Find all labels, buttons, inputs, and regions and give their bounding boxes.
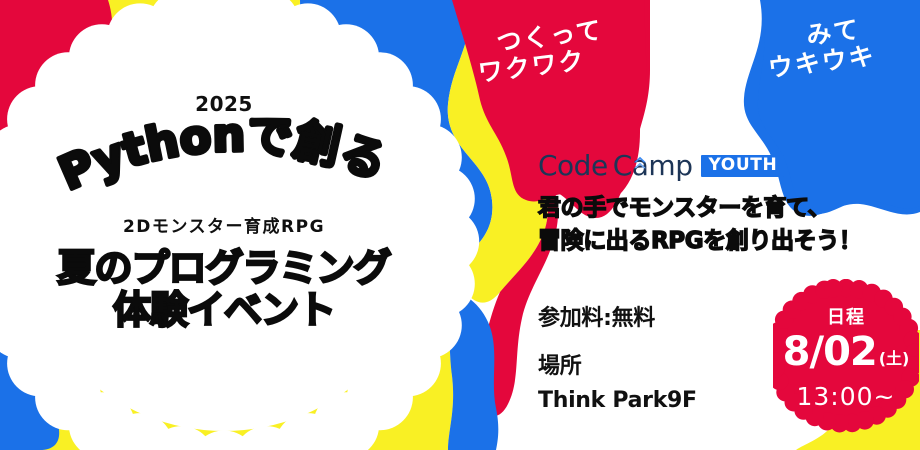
fee-line: 参加料:無料 [538,308,697,330]
logo-a-with-chevron: a [632,152,649,180]
codecamp-youth-logo: Code C a mp YOUTH [538,152,784,180]
youth-badge: YOUTH [701,155,784,177]
logo-mp-text: mp [648,152,692,180]
headline-line1: 君の手でモンスターを育て、 [538,192,861,225]
place-label: 場所 [538,356,697,378]
arched-title: Pythonで創る [44,122,404,208]
main-title-line1: 夏のプログラミング [57,249,390,289]
svg-text:Pythonで創る: Pythonで創る [51,107,394,200]
subtitle: 2Dモンスター育成RPG [123,212,325,237]
right-content-column: Code C a mp YOUTH 君の手でモンスターを育て、 冒険に出る [520,0,920,450]
event-info: 参加料:無料 場所 Think Park9F [538,308,697,412]
arched-title-text: Pythonで創る [51,107,394,200]
left-title-badge: 2025 Pythonで創る 2Dモンスター育成RPG 夏のプログラミング 体験… [18,18,430,432]
chevron-up-icon [633,156,648,175]
main-title-line2: 体験イベント [113,291,335,331]
headline: 君の手でモンスターを育て、 冒険に出るRPGを創り出そう！ [538,192,861,257]
date-label: 日程 [827,309,865,327]
date-badge: 日程 8/02 (土) 13:00~ [773,279,919,435]
logo-code-text: Code [538,152,608,180]
headline-line2: 冒険に出るRPGを創り出そう！ [538,225,861,258]
start-time: 13:00~ [797,384,896,409]
event-poster: 2025 Pythonで創る 2Dモンスター育成RPG 夏のプログラミング 体験… [0,0,920,450]
place-value: Think Park9F [538,390,697,412]
logo-c-text: C [613,152,632,180]
codecamp-wordmark: Code C a mp [538,152,692,180]
day-of-week: (土) [879,351,910,367]
date-value: 8/02 [783,332,877,372]
